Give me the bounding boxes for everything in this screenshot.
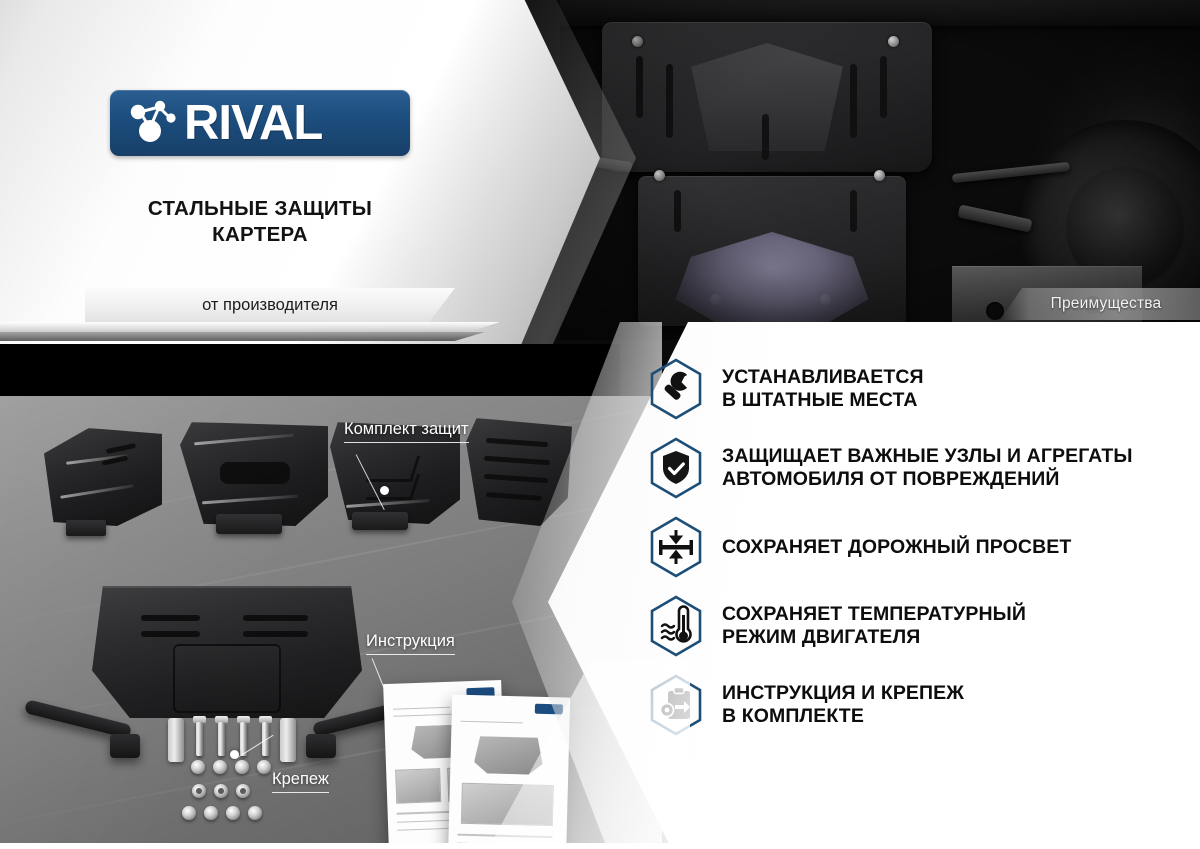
- page-title-line2: КАРТЕРА: [110, 222, 410, 248]
- subtitle-label: от производителя: [202, 296, 338, 315]
- guard-rib: [141, 631, 200, 637]
- page-title: СТАЛЬНЫЕ ЗАЩИТЫ КАРТЕРА: [110, 196, 410, 248]
- brand-name: RIVAL: [184, 95, 322, 151]
- skid-plate-3-tab: [352, 512, 408, 530]
- bolt: [196, 722, 203, 756]
- callout-manual: Инструкция: [366, 632, 455, 655]
- callout-hardware: Крепеж: [272, 770, 329, 793]
- nut: [214, 784, 228, 798]
- washer: [182, 806, 196, 820]
- spacer-sleeve: [280, 718, 296, 762]
- callout-leader-line: [371, 658, 387, 696]
- washer: [204, 806, 218, 820]
- guard-center-panel: [173, 644, 281, 713]
- brand-logo[interactable]: RIVAL: [110, 90, 410, 156]
- black-divider-band: [0, 344, 620, 396]
- callout-kit-label: Комплект защит: [344, 420, 469, 443]
- shield-check-icon: [648, 437, 704, 499]
- plate-groove: [220, 462, 290, 484]
- feature-label: УСТАНАВЛИВАЕТСЯ В ШТАТНЫЕ МЕСТА: [722, 366, 924, 412]
- feature-item: СОХРАНЯЕТ ТЕМПЕРАТУРНЫЙ РЕЖИМ ДВИГАТЕЛЯ: [648, 595, 1188, 657]
- plate-chevron: [366, 474, 420, 500]
- skid-plate-1: [44, 428, 162, 526]
- nut: [236, 784, 250, 798]
- sheet-line: [393, 707, 450, 710]
- bolt: [218, 722, 225, 756]
- feature-item: ИНСТРУКЦИЯ И КРЕПЕЖ В КОМПЛЕКТЕ: [648, 674, 1188, 736]
- callout-hardware-label: Крепеж: [272, 770, 329, 793]
- feature-label-line2: В ШТАТНЫЕ МЕСТА: [722, 389, 924, 412]
- molecule-icon: [126, 98, 178, 148]
- washer: [226, 806, 240, 820]
- washer: [235, 760, 249, 774]
- mounting-bracket-left: [24, 699, 132, 739]
- feature-label-line2: АВТОМОБИЛЯ ОТ ПОВРЕЖДЕНИЙ: [722, 468, 1133, 491]
- sheet-photo: [396, 768, 442, 803]
- callout-dot: [380, 486, 389, 495]
- engine-guard-main: [92, 586, 362, 718]
- poster-canvas: Преимущества: [0, 0, 1200, 849]
- bottom-edge: [0, 843, 1200, 849]
- thermometer-icon: [648, 595, 704, 657]
- ground-clearance-icon: [648, 516, 704, 578]
- skid-plate-1-tab: [66, 520, 106, 536]
- washer: [191, 760, 205, 774]
- guard-rib: [243, 631, 308, 637]
- plate-highlight: [60, 484, 134, 499]
- spacer-sleeve: [168, 718, 184, 762]
- header-strip-dark: [0, 332, 485, 341]
- plate-groove: [484, 456, 550, 466]
- feature-label: СОХРАНЯЕТ ДОРОЖНЫЙ ПРОСВЕТ: [722, 536, 1071, 559]
- tab-advantages-label: Преимущества: [1051, 295, 1162, 313]
- plate-highlight: [346, 499, 430, 508]
- plate-highlight: [194, 434, 294, 446]
- tab-advantages[interactable]: Преимущества: [1000, 288, 1200, 320]
- page-title-line1: СТАЛЬНЫЕ ЗАЩИТЫ: [110, 196, 410, 222]
- plate-groove: [486, 438, 548, 447]
- callout-manual-label: Инструкция: [366, 632, 455, 655]
- plate-groove: [486, 492, 542, 501]
- feature-label-line2: РЕЖИМ ДВИГАТЕЛЯ: [722, 626, 1026, 649]
- feature-label: ИНСТРУКЦИЯ И КРЕПЕЖ В КОМПЛЕКТЕ: [722, 682, 964, 728]
- nut: [192, 784, 206, 798]
- guard-rib: [243, 615, 308, 621]
- mounting-bracket-left-foot: [110, 734, 140, 758]
- feature-label-line2: В КОМПЛЕКТЕ: [722, 705, 964, 728]
- feature-label-line1: ЗАЩИЩАЕТ ВАЖНЫЕ УЗЛЫ И АГРЕГАТЫ: [722, 445, 1133, 467]
- washer: [248, 806, 262, 820]
- feature-label-line1: УСТАНАВЛИВАЕТСЯ: [722, 366, 924, 388]
- mounting-bracket-right-foot: [306, 734, 336, 758]
- feature-label-line1: ИНСТРУКЦИЯ И КРЕПЕЖ: [722, 682, 964, 704]
- callout-dot: [230, 750, 239, 759]
- guard-rib: [141, 615, 200, 621]
- washer: [213, 760, 227, 774]
- feature-item: ЗАЩИЩАЕТ ВАЖНЫЕ УЗЛЫ И АГРЕГАТЫ АВТОМОБИ…: [648, 437, 1188, 499]
- callout-kit: Комплект защит: [344, 420, 469, 443]
- plate-groove: [484, 474, 548, 483]
- plate-highlight: [202, 495, 298, 505]
- header-strip-light: [0, 322, 500, 332]
- washer: [257, 760, 271, 774]
- features-list: УСТАНАВЛИВАЕТСЯ В ШТАТНЫЕ МЕСТА ЗАЩИЩАЕТ…: [648, 358, 1188, 753]
- feature-item: УСТАНАВЛИВАЕТСЯ В ШТАТНЫЕ МЕСТА: [648, 358, 1188, 420]
- wrench-icon: [648, 358, 704, 420]
- plate-groove: [106, 443, 136, 454]
- feature-label-line1: СОХРАНЯЕТ ТЕМПЕРАТУРНЫЙ: [722, 603, 1026, 625]
- feature-label: СОХРАНЯЕТ ТЕМПЕРАТУРНЫЙ РЕЖИМ ДВИГАТЕЛЯ: [722, 603, 1026, 649]
- feature-item: СОХРАНЯЕТ ДОРОЖНЫЙ ПРОСВЕТ: [648, 516, 1188, 578]
- skid-plate-2: [180, 422, 328, 526]
- skid-plate-2-tab: [216, 514, 282, 534]
- sheet-line: [461, 720, 522, 723]
- feature-label-line1: СОХРАНЯЕТ ДОРОЖНЫЙ ПРОСВЕТ: [722, 536, 1071, 558]
- feature-label: ЗАЩИЩАЕТ ВАЖНЫЕ УЗЛЫ И АГРЕГАТЫ АВТОМОБИ…: [722, 445, 1133, 491]
- subtitle-bar: от производителя: [85, 288, 455, 322]
